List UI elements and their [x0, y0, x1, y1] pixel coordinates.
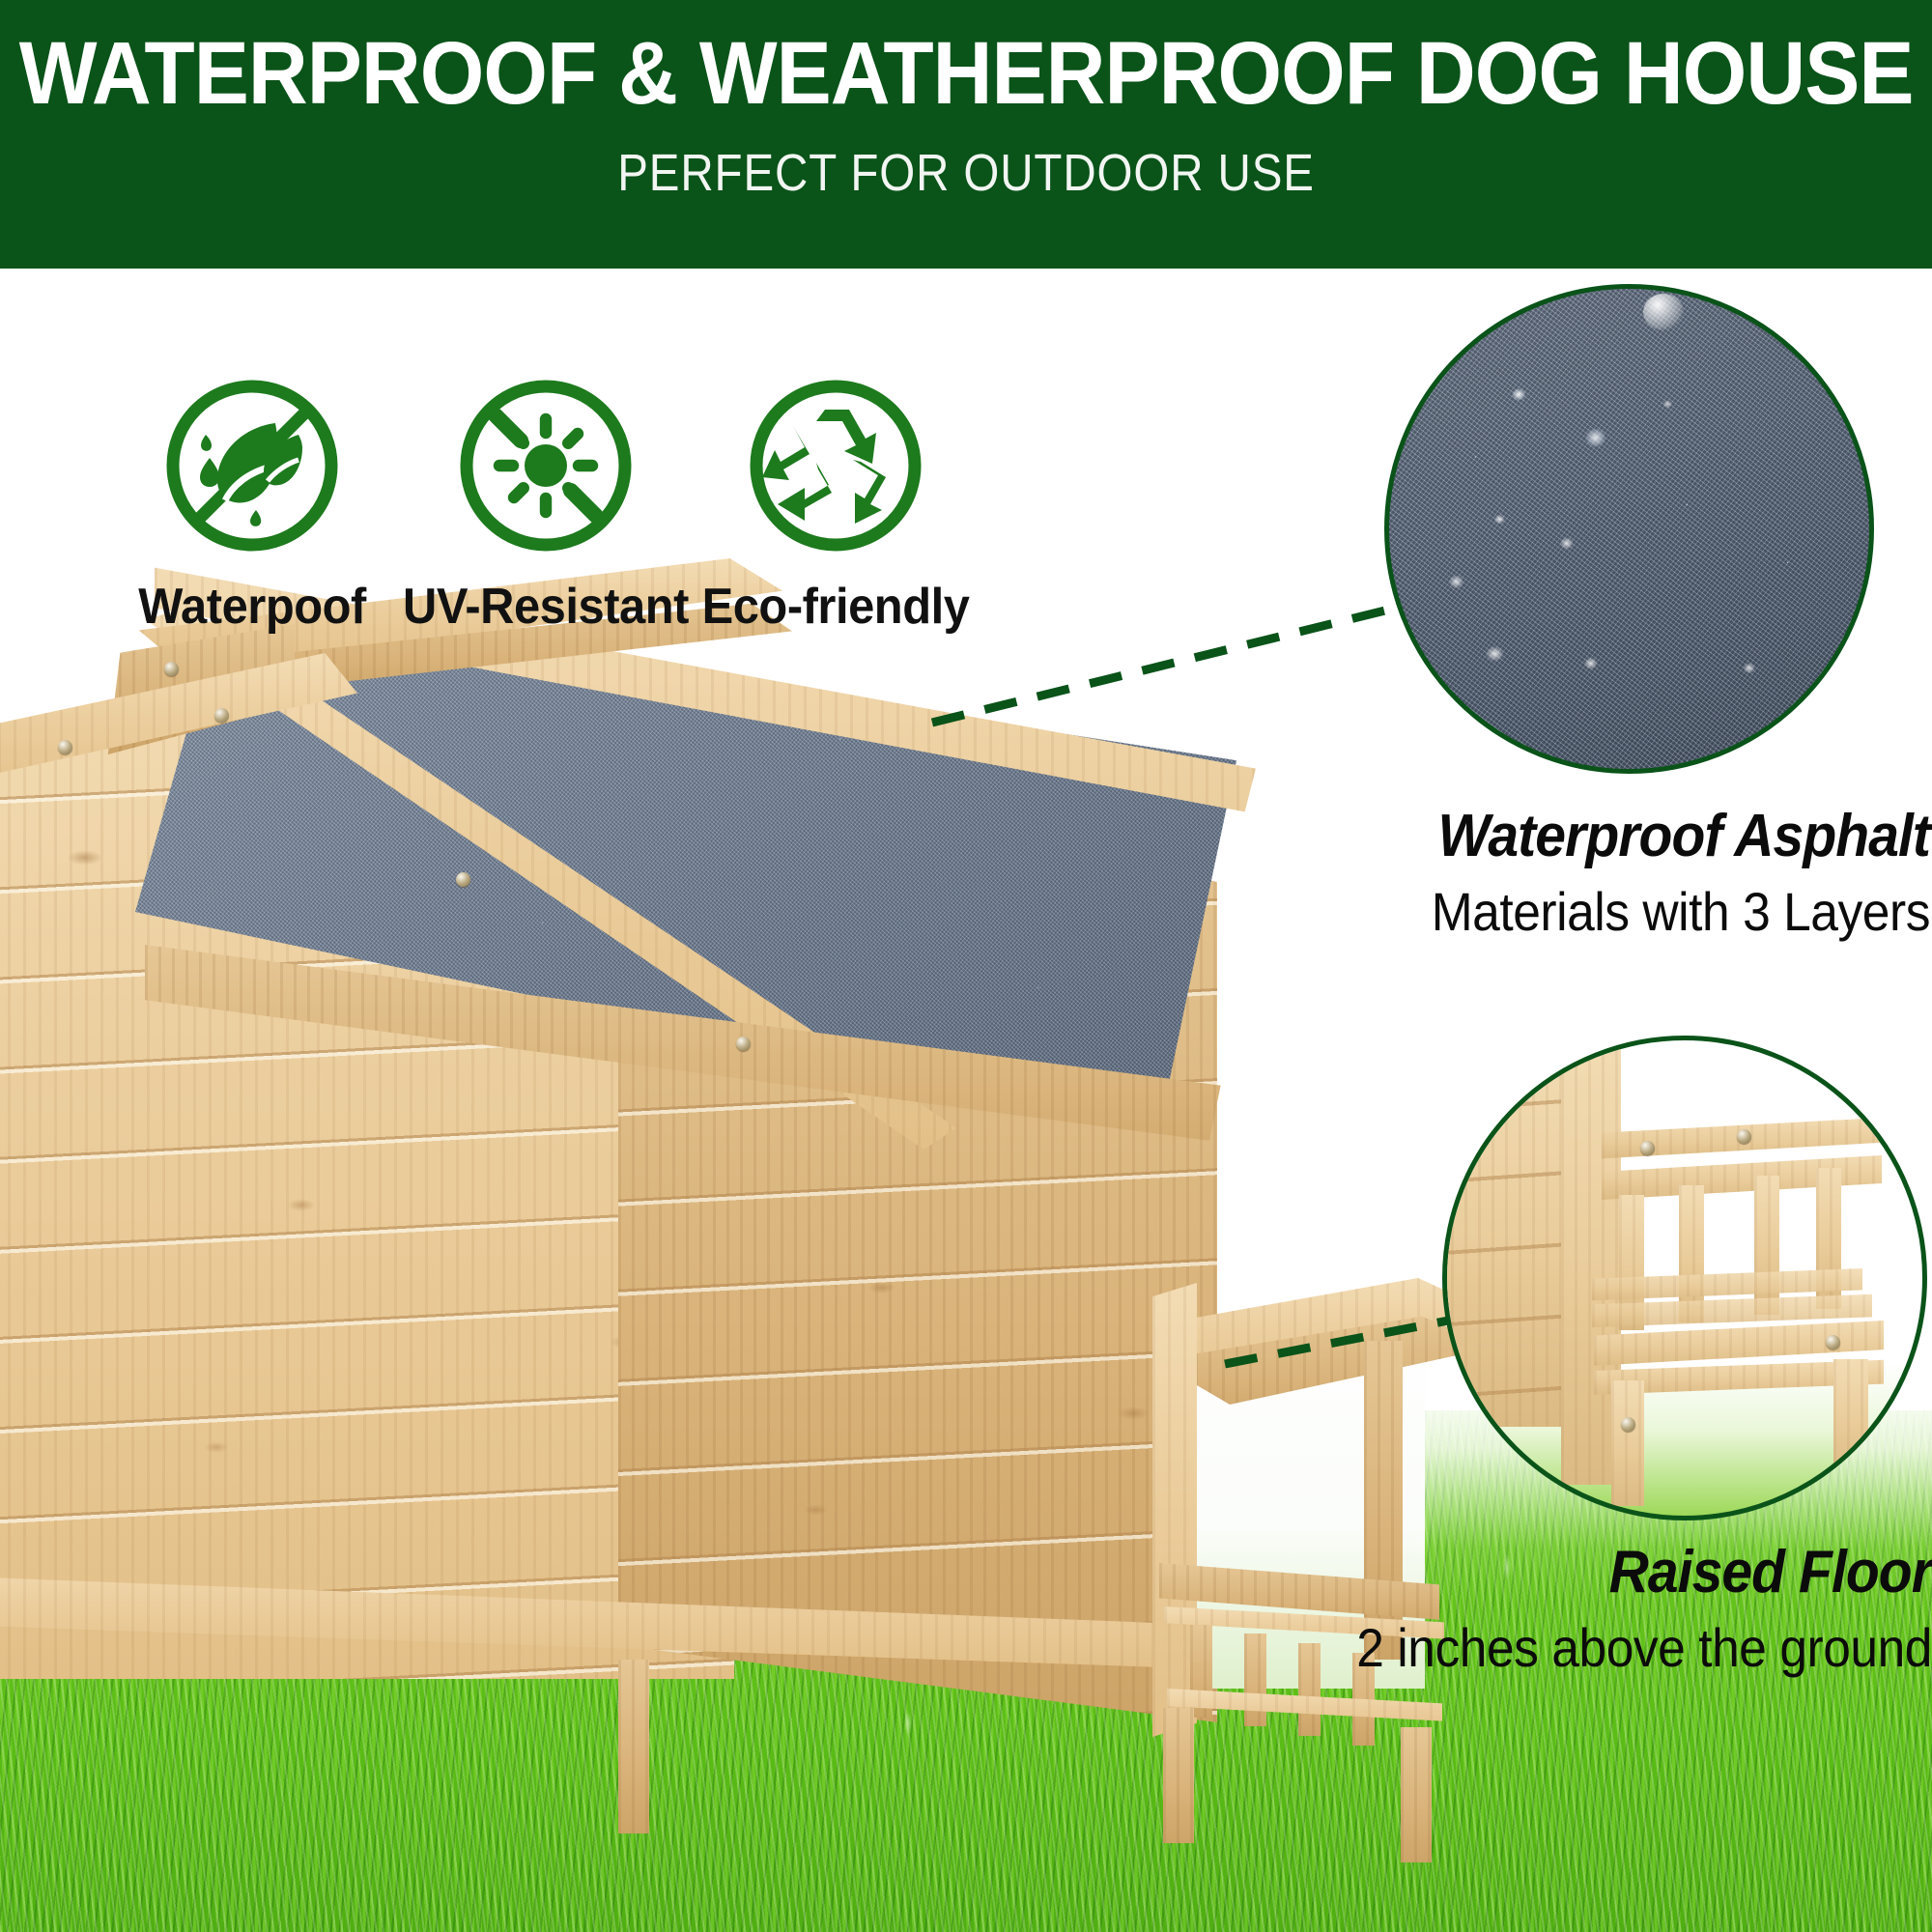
page-title: WATERPROOF & WEATHERPROOF DOG HOUSE: [19, 29, 1914, 118]
caption-title: Waterproof Asphalt: [1397, 802, 1930, 870]
feature-label: UV-Resistant: [396, 578, 696, 636]
screw: [1640, 1141, 1655, 1155]
feature-label: Waterpoof: [102, 578, 402, 636]
page-subtitle: PERFECT FOR OUTDOOR USE: [617, 143, 1315, 203]
no-water-leaf-icon: [156, 369, 349, 562]
water-droplet: [1643, 294, 1684, 330]
caption-title: Raised Floor: [1310, 1538, 1932, 1606]
recycle-icon: [739, 369, 932, 562]
connector-line-asphalt: [932, 607, 1401, 723]
feature-waterproof: Waterpoof: [93, 369, 412, 636]
header-banner: WATERPROOF & WEATHERPROOF DOG HOUSE PERF…: [0, 0, 1932, 269]
feature-label: Eco-friendly: [686, 578, 985, 636]
detail-circle-asphalt: [1384, 284, 1874, 774]
leg: [1611, 1380, 1644, 1506]
leg: [1833, 1359, 1868, 1475]
screw: [1737, 1129, 1751, 1144]
caption-raised-floor: Raised Floor 2 inches above the ground: [1256, 1538, 1932, 1679]
connector-line-floor: [1225, 1317, 1468, 1364]
caption-subtitle: 2 inches above the ground: [1310, 1616, 1932, 1679]
caption-subtitle: Materials with 3 Layers: [1397, 880, 1930, 943]
no-sun-icon: [449, 369, 642, 562]
screw: [1621, 1417, 1635, 1432]
feature-uv-resistant: UV-Resistant: [386, 369, 705, 636]
product-marketing-image: WATERPROOF & WEATHERPROOF DOG HOUSE PERF…: [0, 0, 1932, 1932]
caption-asphalt: Waterproof Asphalt Materials with 3 Laye…: [1350, 802, 1930, 943]
screw: [1826, 1335, 1840, 1350]
feature-eco-friendly: Eco-friendly: [676, 369, 995, 636]
detail-circle-raised-floor: [1442, 1036, 1927, 1520]
